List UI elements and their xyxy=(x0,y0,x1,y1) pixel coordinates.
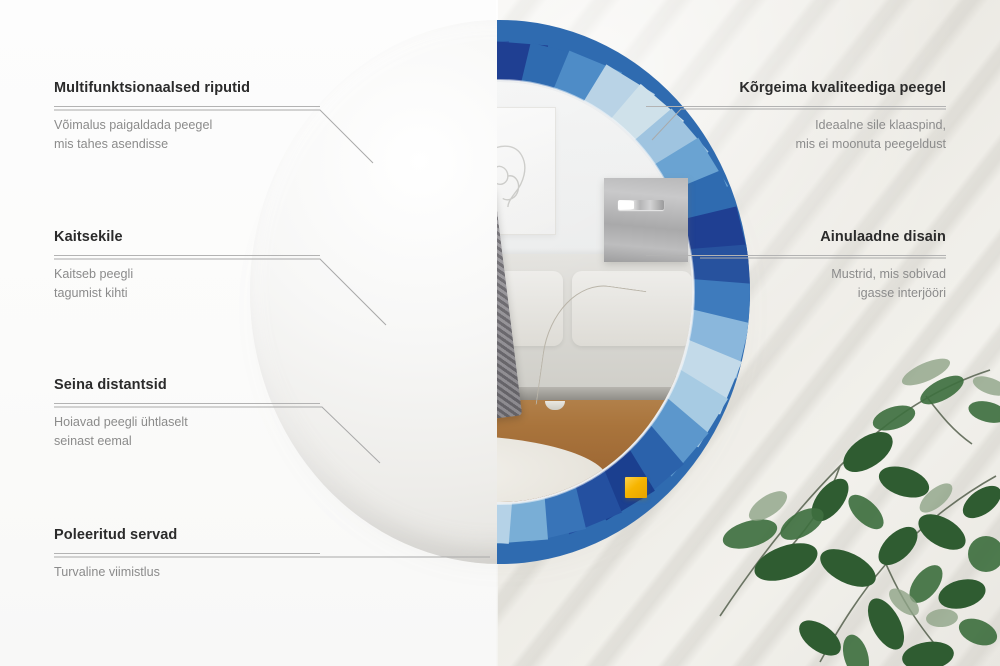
callout-title: Kõrgeima kvaliteediga peegel xyxy=(646,80,946,97)
callout-title: Kaitsekile xyxy=(54,229,320,246)
hanger-keyhole-slot xyxy=(618,200,664,210)
wall-spacer xyxy=(625,477,647,498)
callout-desc-line1: Kaitseb peegli xyxy=(54,265,320,283)
plant-leaves-decoration xyxy=(690,356,1000,666)
callout-desc-line1: Mustrid, mis sobivad xyxy=(646,265,946,283)
callout-unique-design: Ainulaadne disain Mustrid, mis sobivad i… xyxy=(646,229,946,302)
callout-desc-line2: tagumist kihti xyxy=(54,284,320,302)
callout-rule xyxy=(54,553,320,554)
callout-rule xyxy=(646,255,946,256)
callout-rule xyxy=(646,106,946,107)
callout-rule xyxy=(54,255,320,256)
callout-protective-film: Kaitsekile Kaitseb peegli tagumist kihti xyxy=(54,229,320,302)
infographic-canvas: Multifunktsionaalsed riputid Võimalus pa… xyxy=(0,0,1000,666)
callout-mirror-glass: Kõrgeima kvaliteediga peegel Ideaalne si… xyxy=(646,80,946,153)
callout-desc-line1: Hoiavad peegli ühtlaselt xyxy=(54,413,320,431)
callout-desc-line2: mis ei moonuta peegeldust xyxy=(646,135,946,153)
callout-rule xyxy=(54,403,320,404)
callout-rule xyxy=(54,106,320,107)
callout-title: Poleeritud servad xyxy=(54,527,320,544)
callout-desc-line1: Ideaalne sile klaaspind, xyxy=(646,116,946,134)
callout-title: Multifunktsionaalsed riputid xyxy=(54,80,320,97)
callout-title: Ainulaadne disain xyxy=(646,229,946,246)
callout-desc-line1: Turvaline viimistlus xyxy=(54,563,320,581)
callout-desc-line1: Võimalus paigaldada peegel xyxy=(54,116,320,134)
callout-hangers: Multifunktsionaalsed riputid Võimalus pa… xyxy=(54,80,320,153)
callout-title: Seina distantsid xyxy=(54,377,320,394)
callout-wall-spacers: Seina distantsid Hoiavad peegli ühtlasel… xyxy=(54,377,320,450)
callout-polished-edges: Poleeritud servad Turvaline viimistlus xyxy=(54,527,320,582)
callout-desc-line2: seinast eemal xyxy=(54,432,320,450)
callout-desc-line2: igasse interjööri xyxy=(646,284,946,302)
callout-desc-line2: mis tahes asendisse xyxy=(54,135,320,153)
